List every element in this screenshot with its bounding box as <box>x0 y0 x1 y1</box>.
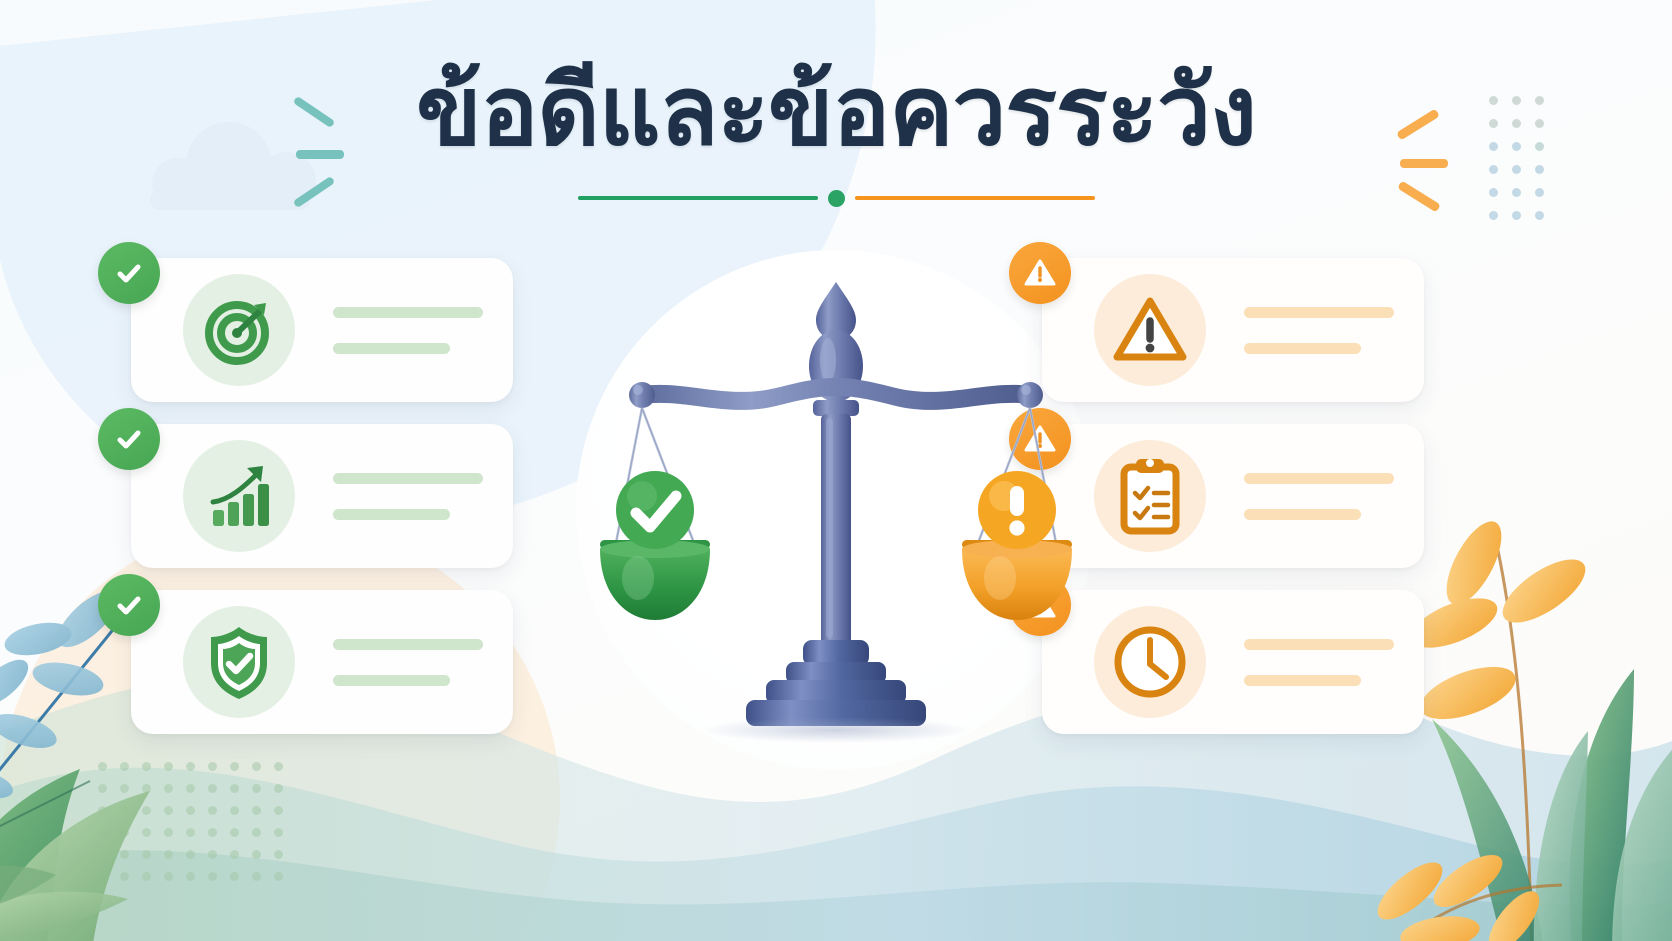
growth-chart-icon <box>183 440 295 552</box>
check-circle-icon <box>98 574 160 636</box>
check-circle-icon <box>98 408 160 470</box>
text-line-2 <box>1244 509 1361 520</box>
text-line-1 <box>1244 473 1394 484</box>
text-line-1 <box>1244 307 1394 318</box>
pros-card-shield[interactable] <box>131 590 513 734</box>
text-line-1 <box>333 639 483 650</box>
clock-icon <box>1094 606 1206 718</box>
divider-line-right <box>855 196 1095 200</box>
divider-dot <box>828 190 845 207</box>
cons-card-checklist[interactable] <box>1042 424 1424 568</box>
pros-card-text-lines <box>333 473 483 520</box>
scale-exclamation-icon <box>978 471 1056 549</box>
text-line-2 <box>1244 343 1361 354</box>
infographic-canvas: ข้อดีและข้อควรระวัง <box>0 0 1672 941</box>
pros-card-growth[interactable] <box>131 424 513 568</box>
pros-card-text-lines <box>333 639 483 686</box>
scale-right-pan <box>962 540 1072 620</box>
text-line-2 <box>1244 675 1361 686</box>
pros-card-text-lines <box>333 307 483 354</box>
clipboard-checklist-icon <box>1094 440 1206 552</box>
shield-check-icon <box>183 606 295 718</box>
text-line-1 <box>1244 639 1394 650</box>
dot-grid-bottom-left <box>98 762 283 881</box>
cons-card-text-lines <box>1244 307 1394 354</box>
text-line-2 <box>333 343 450 354</box>
pros-card-target[interactable] <box>131 258 513 402</box>
warning-triangle-icon <box>1094 274 1206 386</box>
balance-scale <box>576 268 1096 768</box>
scale-left-pan <box>600 540 710 620</box>
cons-card-warning[interactable] <box>1042 258 1424 402</box>
text-line-2 <box>333 509 450 520</box>
text-line-1 <box>333 307 483 318</box>
divider-line-left <box>578 196 818 200</box>
header: ข้อดีและข้อควรระวัง <box>0 62 1672 207</box>
title-divider <box>0 190 1672 207</box>
cons-card-text-lines <box>1244 473 1394 520</box>
page-title: ข้อดีและข้อควรระวัง <box>0 62 1672 162</box>
text-line-1 <box>333 473 483 484</box>
cons-column <box>1042 258 1424 734</box>
check-circle-icon <box>98 242 160 304</box>
cons-card-text-lines <box>1244 639 1394 686</box>
scale-check-icon <box>616 471 694 549</box>
pros-column <box>131 258 513 734</box>
text-line-2 <box>333 675 450 686</box>
target-arrow-icon <box>183 274 295 386</box>
cons-card-clock[interactable] <box>1042 590 1424 734</box>
